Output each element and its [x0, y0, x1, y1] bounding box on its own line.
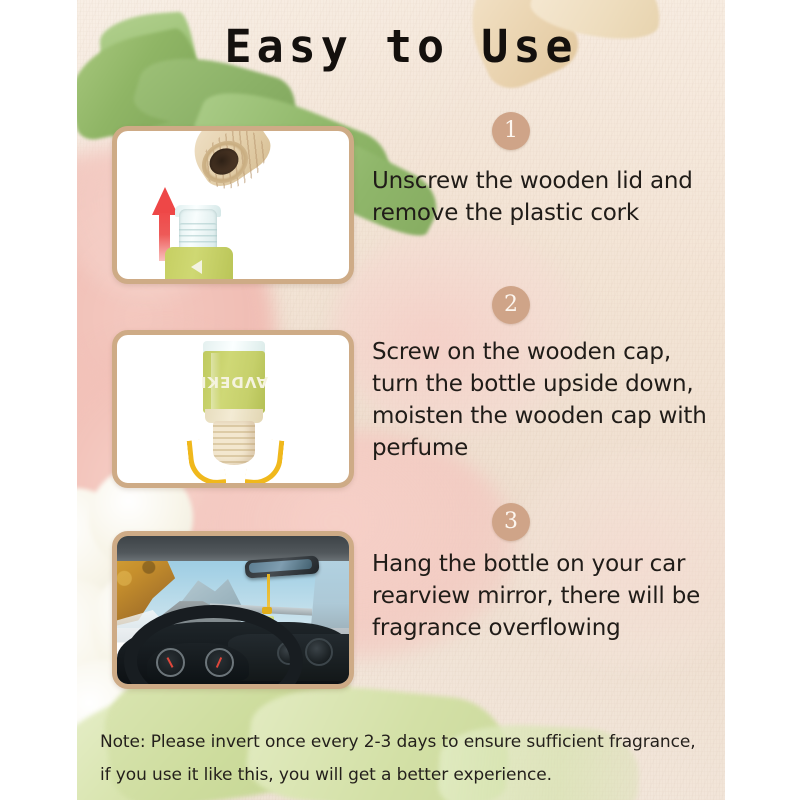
step-3-number-badge: 3: [492, 503, 530, 541]
step-1-image-card: [112, 126, 354, 284]
right-margin: [725, 0, 800, 800]
page-title: Easy to Use: [77, 24, 725, 69]
bottle-brand-label: AVDEKI: [203, 351, 265, 413]
footnote-note: Note: Please invert once every 2-3 days …: [100, 726, 700, 792]
step-1-description: Unscrew the wooden lid and remove the pl…: [372, 165, 712, 229]
air-vent-icon: [305, 638, 333, 666]
step-2-photo: AVDEKI: [117, 335, 349, 483]
step-3-photo: [117, 536, 349, 684]
instruction-graphic: Easy to Use 1 Unscrew the wooden lid and…: [0, 0, 800, 800]
left-margin: [0, 0, 77, 800]
hanging-cord-knot: [262, 607, 272, 614]
step-3-image-card: [112, 531, 354, 689]
step-3-description: Hang the bottle on your car rearview mir…: [372, 548, 712, 644]
step-2-image-card: AVDEKI: [112, 330, 354, 488]
hanging-cord: [267, 574, 270, 610]
step-1-photo: [117, 131, 349, 279]
step-1-number-badge: 1: [492, 112, 530, 150]
step-2-description: Screw on the wooden cap, turn the bottle…: [372, 336, 712, 464]
step-2-number-badge: 2: [492, 286, 530, 324]
brand-mark-icon: [191, 260, 202, 274]
hanging-cord-bottom: [207, 475, 259, 483]
